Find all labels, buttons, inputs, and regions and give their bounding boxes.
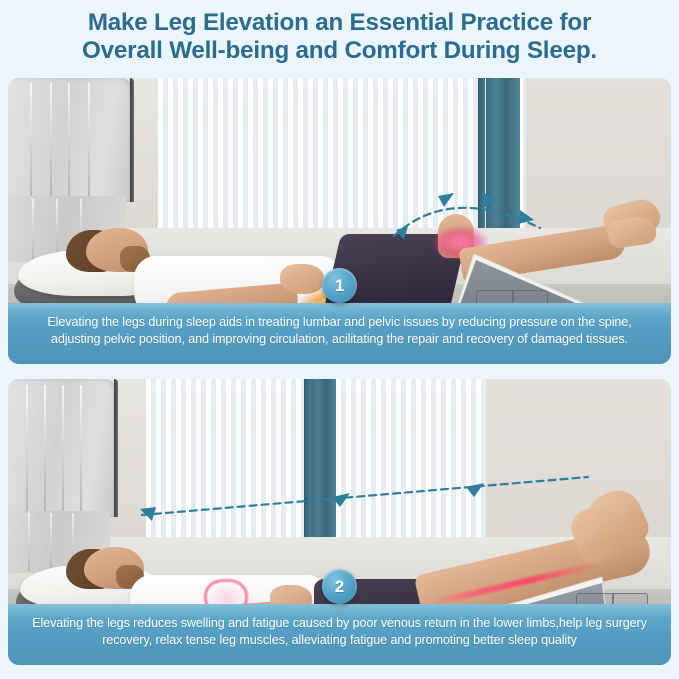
step-badge-2: 2 (322, 569, 357, 604)
headboard (8, 78, 134, 202)
panel-1-caption-text: Elevating the legs during sleep aids in … (47, 315, 631, 346)
page-title-line-2: Overall Well-being and Comfort During Sl… (18, 37, 661, 65)
page-title: Make Leg Elevation an Essential Practice… (0, 0, 679, 66)
panel-2-caption-text: Elevating the legs reduces swelling and … (32, 616, 647, 647)
headboard (8, 379, 118, 517)
circulation-flow-arrow (136, 471, 596, 519)
knee-elevation-arrow (388, 182, 548, 244)
panel-2-caption: Elevating the legs reduces swelling and … (8, 604, 671, 665)
page-title-line-1: Make Leg Elevation an Essential Practice… (88, 9, 591, 36)
step-badge-1: 1 (322, 268, 357, 303)
panel-1-caption: Elevating the legs during sleep aids in … (8, 303, 671, 364)
